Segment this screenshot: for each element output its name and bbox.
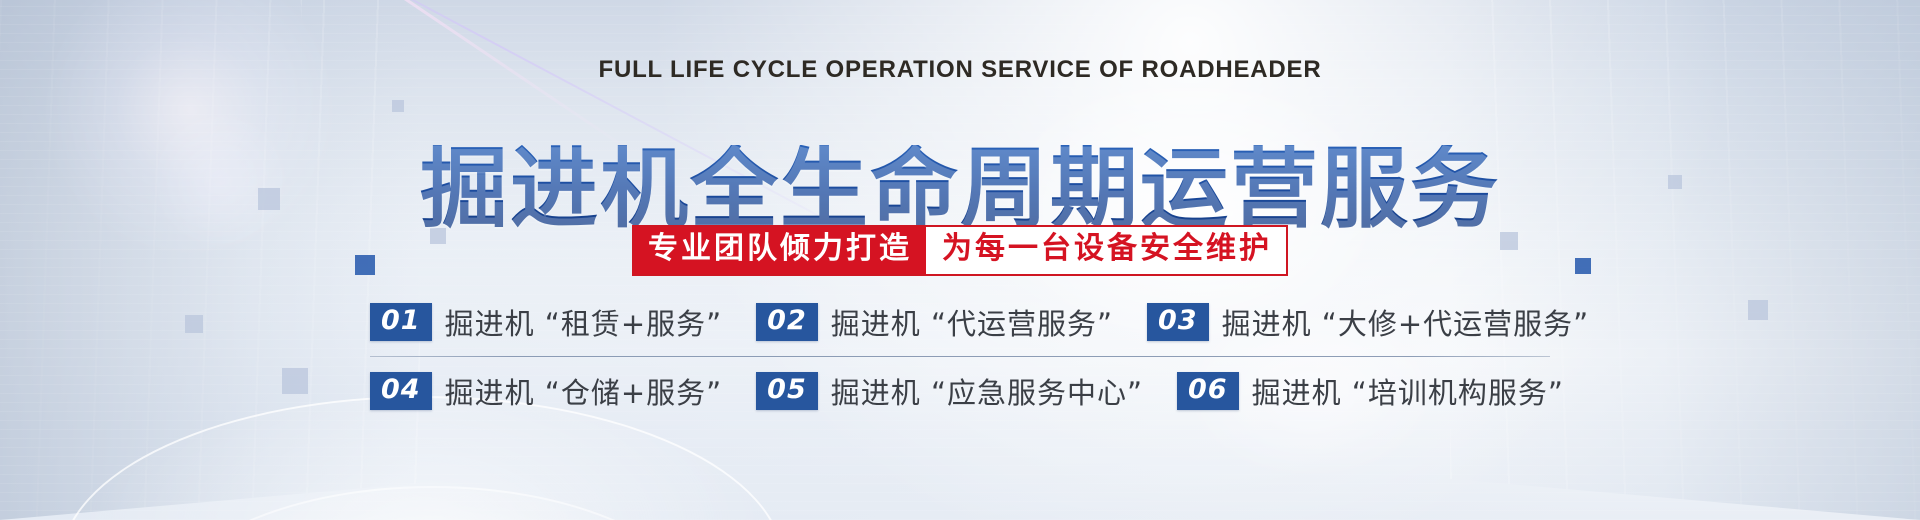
service-number-badge: 01	[370, 303, 432, 341]
service-item-02[interactable]: 02 掘进机 “代运营服务”	[756, 301, 1113, 343]
banner-eyebrow: FULL LIFE CYCLE OPERATION SERVICE OF ROA…	[0, 56, 1920, 84]
service-number-badge: 05	[756, 372, 818, 410]
slogan-secondary: 为每一台设备安全维护	[926, 227, 1286, 274]
banner-content: FULL LIFE CYCLE OPERATION SERVICE OF ROA…	[0, 0, 1920, 520]
service-label: 掘进机 “代运营服务”	[831, 301, 1113, 343]
service-label: 掘进机 “仓储+服务”	[445, 370, 723, 412]
service-number-badge: 03	[1147, 303, 1209, 341]
service-label: 掘进机 “大修+代运营服务”	[1222, 301, 1590, 343]
service-item-05[interactable]: 05 掘进机 “应急服务中心”	[756, 370, 1143, 412]
service-number-badge: 04	[370, 372, 432, 410]
service-number-badge: 06	[1177, 372, 1239, 410]
slogan-inner: 专业团队倾力打造 为每一台设备安全维护	[632, 225, 1288, 276]
banner-title: 掘进机全生命周期运营服务	[0, 145, 1920, 233]
slogan-primary: 专业团队倾力打造	[634, 227, 926, 274]
service-item-06[interactable]: 06 掘进机 “培训机构服务”	[1177, 370, 1564, 412]
service-item-04[interactable]: 04 掘进机 “仓储+服务”	[370, 370, 722, 412]
promo-banner: FULL LIFE CYCLE OPERATION SERVICE OF ROA…	[0, 0, 1920, 520]
service-list: 01 掘进机 “租赁+服务” 02 掘进机 “代运营服务” 03 掘进机 “大修…	[0, 288, 1920, 425]
service-number-badge: 02	[756, 303, 818, 341]
service-item-01[interactable]: 01 掘进机 “租赁+服务”	[370, 301, 722, 343]
service-row-top: 01 掘进机 “租赁+服务” 02 掘进机 “代运营服务” 03 掘进机 “大修…	[370, 288, 1550, 357]
service-label: 掘进机 “应急服务中心”	[831, 370, 1143, 412]
service-item-03[interactable]: 03 掘进机 “大修+代运营服务”	[1147, 301, 1589, 343]
service-label: 掘进机 “租赁+服务”	[445, 301, 723, 343]
service-row-bottom: 04 掘进机 “仓储+服务” 05 掘进机 “应急服务中心” 06 掘进机 “培…	[370, 357, 1550, 425]
slogan-strip: 专业团队倾力打造 为每一台设备安全维护	[0, 225, 1920, 276]
service-label: 掘进机 “培训机构服务”	[1252, 370, 1564, 412]
